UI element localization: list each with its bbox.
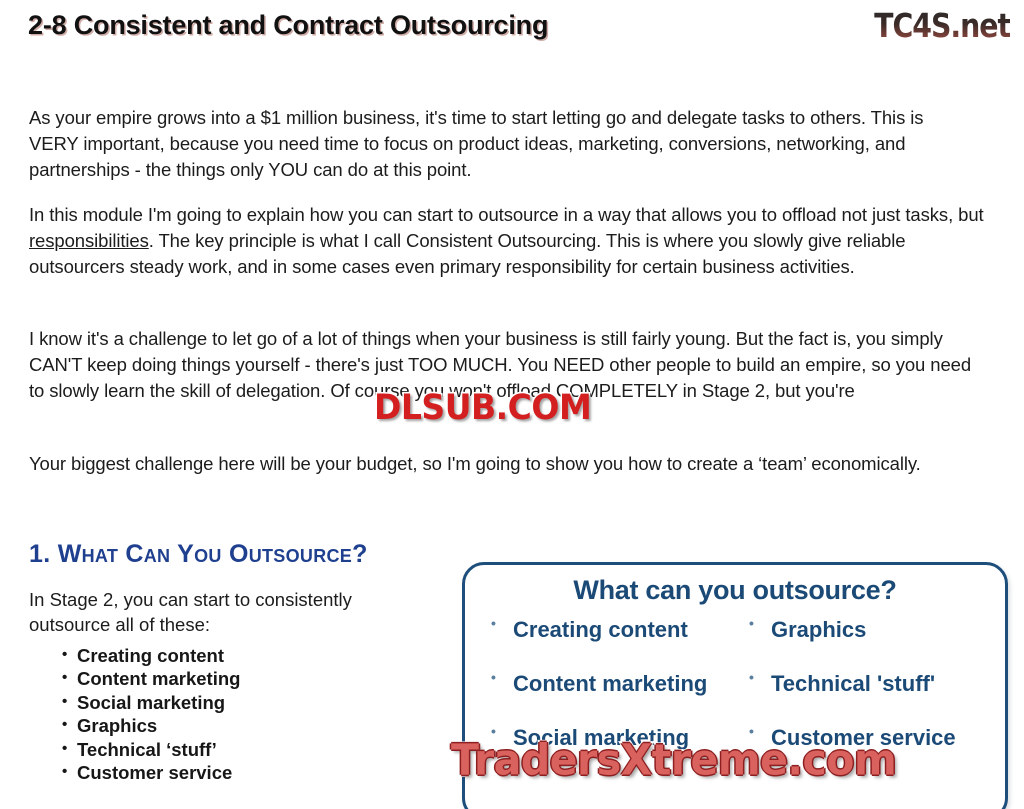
- paragraph-challenge: I know it's a challenge to let go of a l…: [29, 326, 979, 404]
- outsource-callout-box: What can you outsource? Creating content…: [462, 562, 1008, 809]
- callout-box-title: What can you outsource?: [465, 575, 1005, 606]
- section-intro-text: In Stage 2, you can start to consistentl…: [29, 587, 419, 637]
- list-item: Customer service: [745, 725, 1009, 751]
- list-item: Graphics: [745, 617, 1009, 643]
- callout-left-column: Creating content Content marketing Socia…: [487, 617, 747, 779]
- list-item: Graphics: [77, 714, 240, 737]
- list-item: Content marketing: [77, 667, 240, 690]
- site-logo: TC4S.net: [874, 6, 1010, 45]
- document-page: 2-8 Consistent and Contract Outsourcing …: [0, 0, 1024, 809]
- list-item: Technical ‘stuff’: [77, 738, 240, 761]
- list-item: Customer service: [77, 761, 240, 784]
- paragraph-intro: As your empire grows into a $1 million b…: [29, 105, 954, 183]
- section-heading-what-can-you-outsource: 1. What Can You Outsource?: [29, 540, 368, 569]
- list-item: Social marketing: [487, 725, 747, 751]
- paragraph-text-before-link: In this module I'm going to explain how …: [29, 204, 984, 225]
- callout-right-column: Graphics Technical 'stuff' Customer serv…: [745, 617, 1009, 779]
- paragraph-module-overview: In this module I'm going to explain how …: [29, 202, 989, 280]
- underlined-responsibilities: responsibilities: [29, 230, 149, 251]
- list-item: Social marketing: [77, 691, 240, 714]
- paragraph-text-after-link: . The key principle is what I call Consi…: [29, 230, 905, 277]
- list-item: Creating content: [487, 617, 747, 643]
- list-item: Content marketing: [487, 671, 747, 697]
- page-title: 2-8 Consistent and Contract Outsourcing: [28, 10, 548, 41]
- outsource-bullet-list: Creating content Content marketing Socia…: [55, 644, 240, 784]
- paragraph-budget: Your biggest challenge here will be your…: [29, 451, 929, 477]
- list-item: Technical 'stuff': [745, 671, 1009, 697]
- list-item: Creating content: [77, 644, 240, 667]
